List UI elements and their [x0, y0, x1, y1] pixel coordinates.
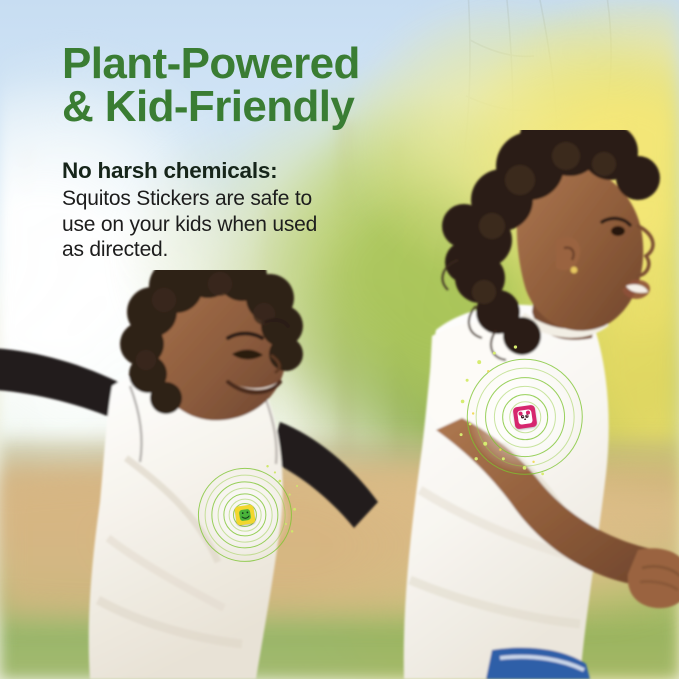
product-lifestyle-image: Plant-Powered & Kid-Friendly No harsh ch…: [0, 0, 679, 679]
marketing-copy-block: Plant-Powered & Kid-Friendly No harsh ch…: [62, 42, 492, 262]
headline: Plant-Powered & Kid-Friendly: [62, 42, 492, 128]
subheadline: No harsh chemicals:: [62, 158, 492, 183]
left-child: [0, 270, 380, 679]
body-text: Squitos Stickers are safe to use on your…: [62, 186, 492, 262]
